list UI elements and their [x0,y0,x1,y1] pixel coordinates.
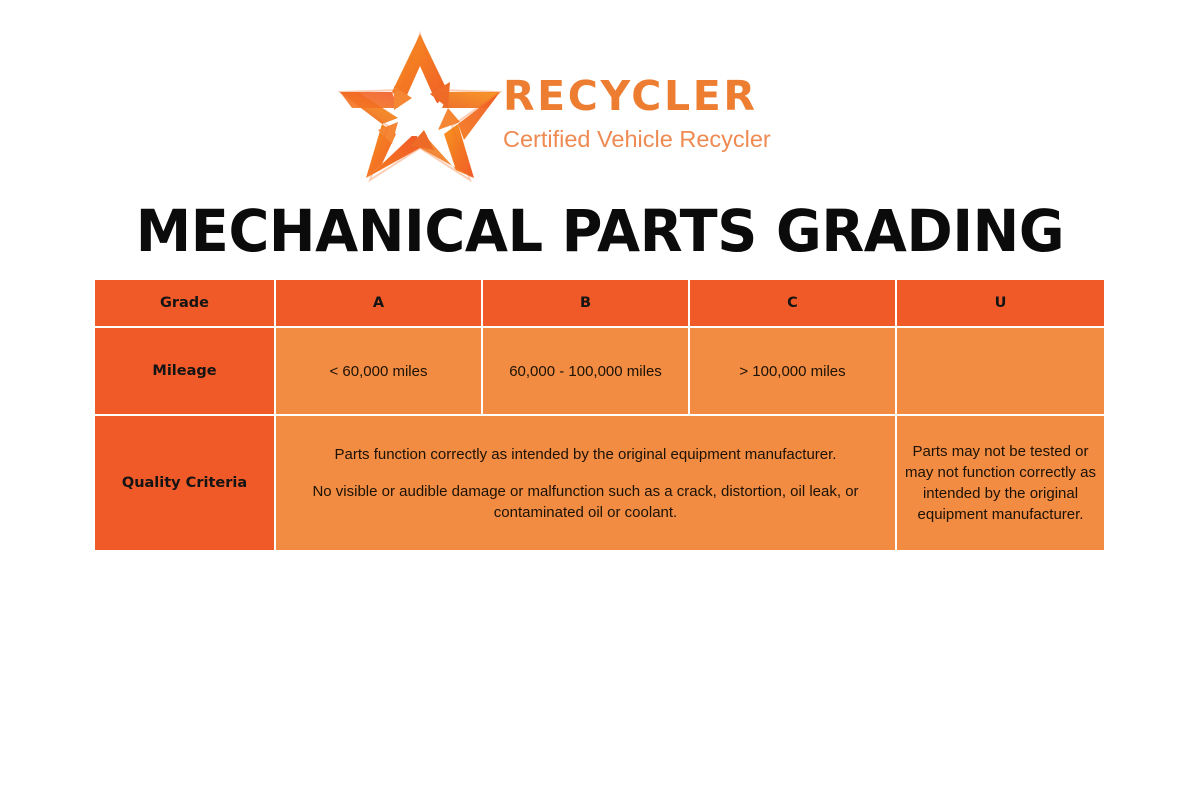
row-label-quality-criteria: Quality Criteria [95,416,276,550]
mechanical-parts-grading-table: Grade A B C U Mileage < 60,000 miles 60,… [95,280,1104,550]
brand-tagline: Certified Vehicle Recycler [503,128,768,152]
brand-name: RECYCLER [503,76,768,117]
table-header-cell-c: C [690,280,897,328]
cell-mileage-u [897,328,1104,416]
brand-logo: RECYCLER Certified Vehicle Recycler [338,24,768,184]
brand-wordmark: RECYCLER Certified Vehicle Recycler [503,76,768,176]
table-row-mileage: Mileage < 60,000 miles 60,000 - 100,000 … [95,328,1104,416]
table-header-cell-b: B [483,280,690,328]
cell-quality-criteria-u: Parts may not be tested or may not funct… [897,416,1104,550]
table-row-quality-criteria: Quality Criteria Parts function correctl… [95,416,1104,550]
table-header-cell-a: A [276,280,483,328]
brand-logo-block: RECYCLER Certified Vehicle Recycler [0,24,1200,184]
table-header-cell-grade: Grade [95,280,276,328]
row-label-mileage: Mileage [95,328,276,416]
table-header-cell-u: U [897,280,1104,328]
cell-mileage-c: > 100,000 miles [690,328,897,416]
recycling-star-icon [338,30,502,182]
cell-quality-criteria-abc: Parts function correctly as intended by … [276,416,897,550]
page-title: MECHANICAL PARTS GRADING [24,196,1176,266]
quality-criteria-line-2: No visible or audible damage or malfunct… [276,481,895,523]
quality-criteria-line-1: Parts function correctly as intended by … [276,444,895,465]
table-header-row: Grade A B C U [95,280,1104,328]
cell-mileage-b: 60,000 - 100,000 miles [483,328,690,416]
cell-mileage-a: < 60,000 miles [276,328,483,416]
